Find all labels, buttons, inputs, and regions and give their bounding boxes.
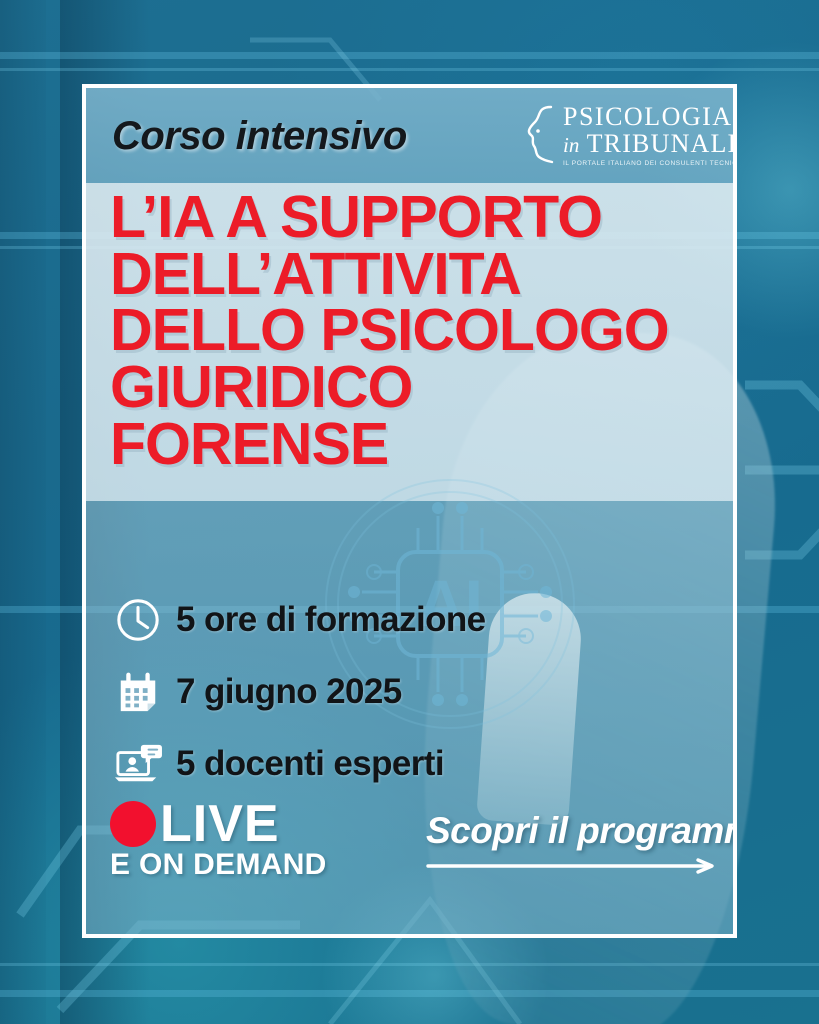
logo-tagline: IL PORTALE ITALIANO DEI CONSULENTI TECNI… — [563, 160, 737, 167]
face-profile-icon — [525, 104, 559, 166]
detail-row-date: 7 giugno 2025 — [106, 656, 486, 728]
poster-content: Corso intensivo PSICOLOGIA in TRIBUNALE … — [86, 88, 733, 934]
live-dot-icon — [110, 801, 156, 847]
headline-line-4: GIURIDICO — [110, 359, 730, 416]
detail-row-teachers: 5 docenti esperti — [106, 728, 486, 800]
course-details-list: 5 ore di formazione — [106, 584, 486, 800]
logo-line-2: TRIBUNALE — [587, 129, 737, 158]
detail-label-teachers: 5 docenti esperti — [176, 744, 444, 784]
brand-logo[interactable]: PSICOLOGIA in TRIBUNALE IL PORTALE ITALI… — [525, 104, 721, 167]
logo-line-2-italic: in — [563, 133, 579, 157]
poster-frame: AI Corso intensivo PSICOLOGIA in TRI — [82, 84, 737, 938]
clock-icon — [106, 592, 170, 648]
live-label: LIVE — [160, 798, 280, 850]
headline-line-5: FORENSE — [110, 416, 730, 473]
cta-discover-programme[interactable]: Scopri il programma — [426, 810, 718, 879]
detail-row-duration: 5 ore di formazione — [106, 584, 486, 656]
calendar-icon — [106, 664, 170, 720]
detail-label-duration: 5 ore di formazione — [176, 600, 486, 640]
cta-label: Scopri il programma — [426, 810, 718, 852]
logo-line-1: PSICOLOGIA — [563, 104, 737, 130]
headline: L’IA A SUPPORTO DELL’ATTIVITA DELLO PSIC… — [110, 189, 730, 472]
headline-line-2: DELL’ATTIVITA — [110, 246, 730, 303]
headline-line-3: DELLO PSICOLOGO — [110, 302, 730, 359]
live-subtitle: E ON DEMAND — [110, 848, 327, 882]
kicker-text: Corso intensivo — [112, 114, 407, 159]
detail-label-date: 7 giugno 2025 — [176, 672, 402, 712]
laptop-presenter-icon — [106, 736, 170, 792]
arrow-right-icon — [426, 858, 718, 874]
headline-line-1: L’IA A SUPPORTO — [110, 189, 730, 246]
live-badge: LIVE E ON DEMAND — [110, 798, 327, 882]
